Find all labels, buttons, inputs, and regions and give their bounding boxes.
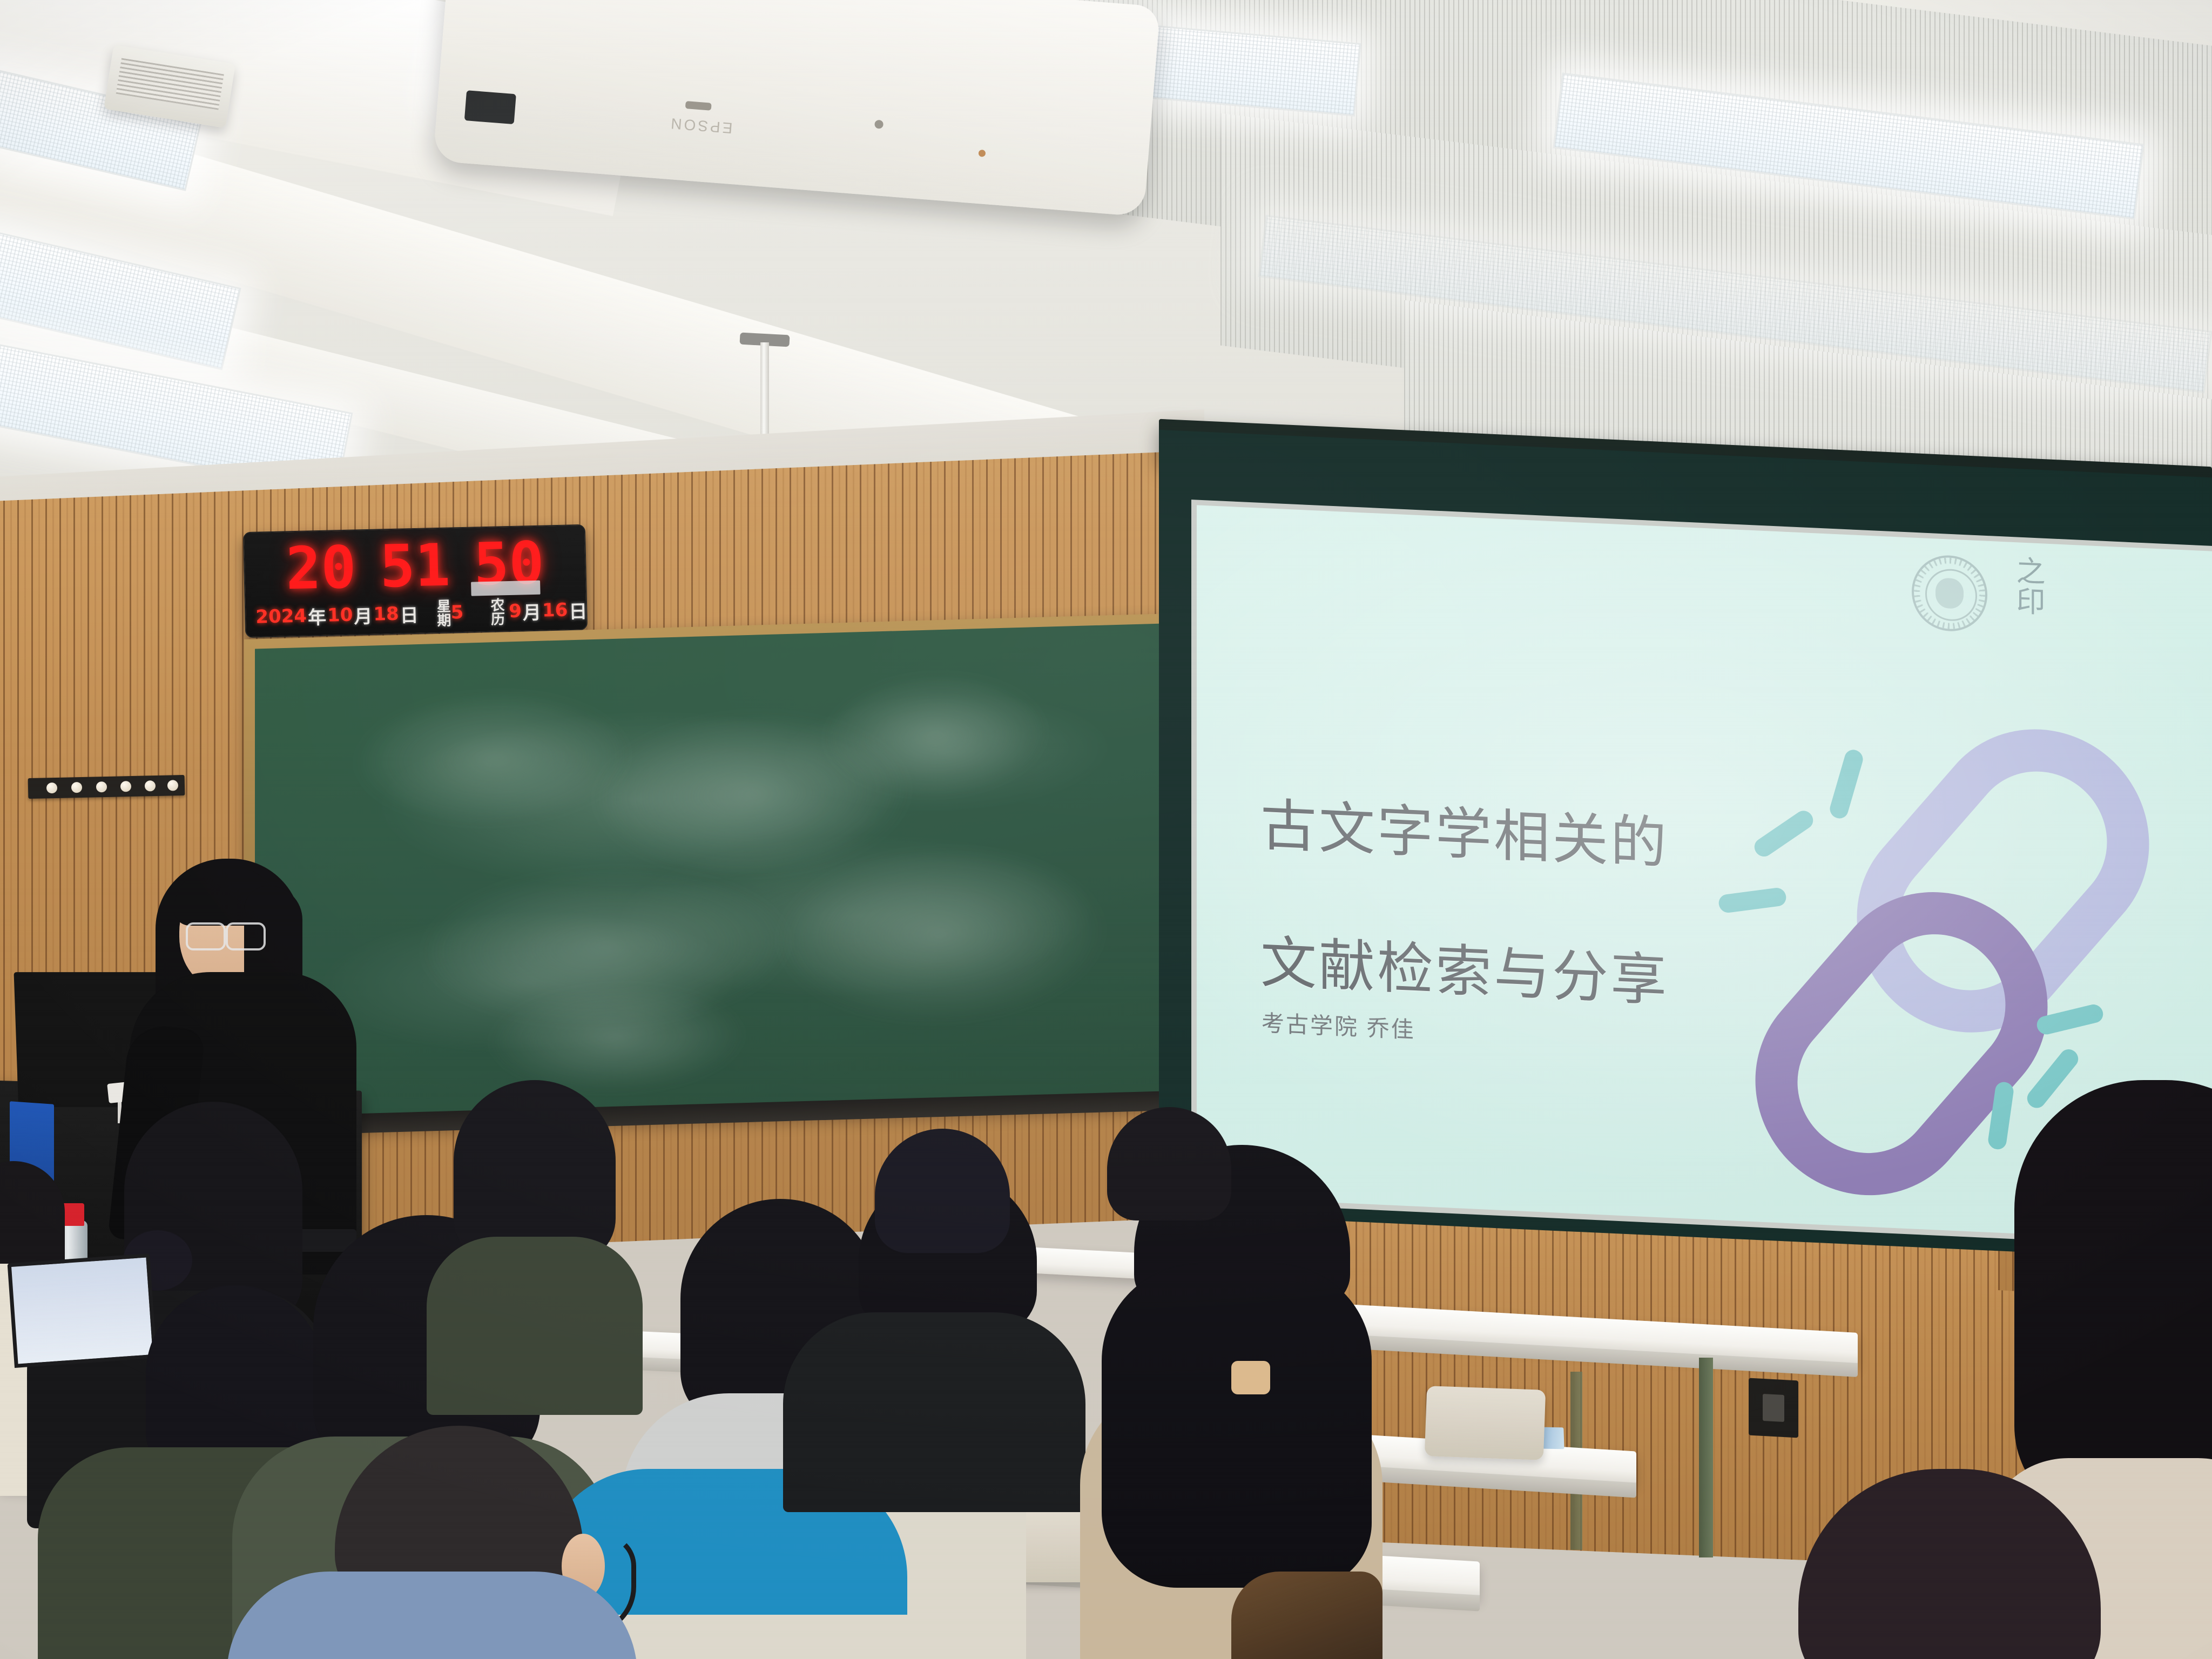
slide-title-line-1: 古文字学相关的 — [1260, 792, 1669, 879]
slide-subtitle: 考古学院 乔佳 — [1262, 1005, 1415, 1045]
audience-fur-collar — [1231, 1572, 1382, 1659]
clock-lunar-label: 农历 — [489, 597, 504, 626]
desk-leg — [1699, 1358, 1713, 1557]
coat-hook — [46, 783, 57, 793]
seal-calligraphy-text: 之印 — [2007, 555, 2049, 617]
clock-day-value: 18 — [373, 603, 399, 625]
audience-member — [238, 1437, 691, 1659]
clock-month-value: 10 — [327, 604, 353, 626]
chalk-smudge — [822, 670, 1049, 800]
accent-dash — [1717, 887, 1788, 914]
audience-torso — [227, 1572, 637, 1659]
university-seal-icon — [1912, 554, 1987, 632]
chalk-smudge — [773, 841, 1108, 1028]
projector-indicator-dot — [874, 120, 884, 129]
clock-lunar-day-label: 日 — [569, 596, 588, 623]
clock-hours: 20 — [285, 534, 357, 603]
coat-hook — [167, 780, 178, 791]
clock-lunar-month-value: 9 — [509, 601, 522, 623]
clock-weekday-label: 星期 — [435, 599, 450, 628]
audience-member — [1798, 1469, 2133, 1659]
slide-title-line-2: 文献检索与分享 — [1260, 928, 1669, 1015]
seal-ring-text — [1914, 556, 1985, 631]
clock-lunar-day-value: 16 — [542, 599, 568, 622]
projector-sensor-dot — [685, 101, 712, 111]
presenter-glasses-right-lens — [226, 922, 266, 950]
clock-year-label: 年 — [307, 602, 326, 629]
accent-dash — [1827, 747, 1865, 821]
audience-torso — [783, 1312, 1085, 1512]
clock-year-value: 2024 — [255, 605, 307, 628]
accent-dash — [1751, 807, 1817, 860]
digital-wall-clock: 20 51 50 2024 年 10 月 18 日 星期 5 农历 9 月 16… — [243, 524, 588, 638]
coat-hook — [71, 782, 82, 793]
clock-month-label: 月 — [354, 601, 373, 628]
presenter-glasses-left-lens — [186, 922, 226, 950]
coat-hook — [120, 781, 131, 792]
lecture-hall-photo: EPSON 20 51 50 2024 年 — [0, 0, 2212, 1659]
projector-brand-label: EPSON — [668, 114, 733, 137]
blackboard — [255, 623, 1164, 1122]
audience-hair — [2014, 1080, 2212, 1523]
clock-minutes: 51 — [379, 531, 451, 601]
clock-lunar-month-label: 月 — [522, 597, 541, 624]
clock-tape-patch — [471, 581, 541, 596]
hair-clip — [1231, 1361, 1270, 1394]
ceiling: EPSON — [0, 0, 2212, 486]
audience-hair — [1798, 1469, 2101, 1659]
coat-hook-rail — [28, 775, 185, 799]
clock-day-label: 日 — [400, 600, 419, 627]
audience-hair-length — [1102, 1264, 1372, 1588]
audience-member — [1091, 1107, 1253, 1269]
coat-hook — [145, 780, 156, 791]
projector-indicator-dot — [978, 150, 986, 157]
audience-hair — [875, 1129, 1010, 1253]
wall-power-outlet — [1749, 1378, 1798, 1438]
clock-weekday-value: 5 — [450, 602, 464, 624]
audience-hair — [454, 1080, 616, 1264]
audience-member — [853, 1129, 1037, 1312]
audience-hair — [1107, 1107, 1231, 1220]
coat-hook — [96, 781, 107, 792]
projector-lens — [464, 90, 516, 124]
